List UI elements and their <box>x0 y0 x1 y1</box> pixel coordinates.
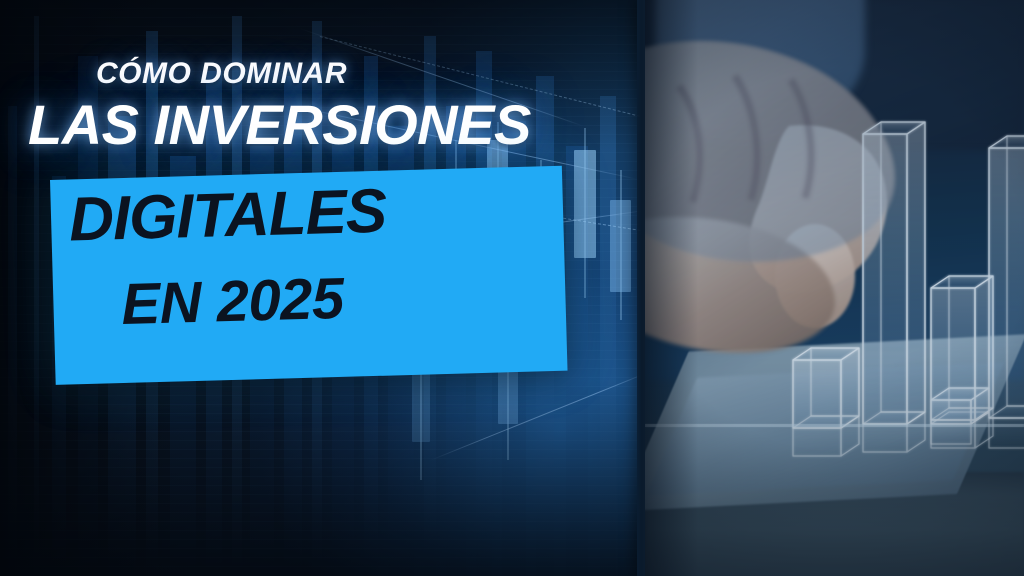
plate-text-group: DIGITALES EN 2025 <box>50 166 568 385</box>
headline-kicker: CÓMO DOMINAR <box>96 57 347 91</box>
photo-vignette <box>645 0 1024 576</box>
headline-line-4: EN 2025 <box>121 270 345 334</box>
thumbnail-canvas: CÓMO DOMINAR LAS INVERSIONES DIGITALES E… <box>0 0 1024 576</box>
title-panel: CÓMO DOMINAR LAS INVERSIONES DIGITALES E… <box>0 0 643 576</box>
headline-group: CÓMO DOMINAR LAS INVERSIONES DIGITALES E… <box>0 0 643 576</box>
headline-line-3: DIGITALES <box>68 181 387 252</box>
photo-panel <box>645 0 1024 576</box>
headline-line-2: LAS INVERSIONES <box>28 97 531 153</box>
